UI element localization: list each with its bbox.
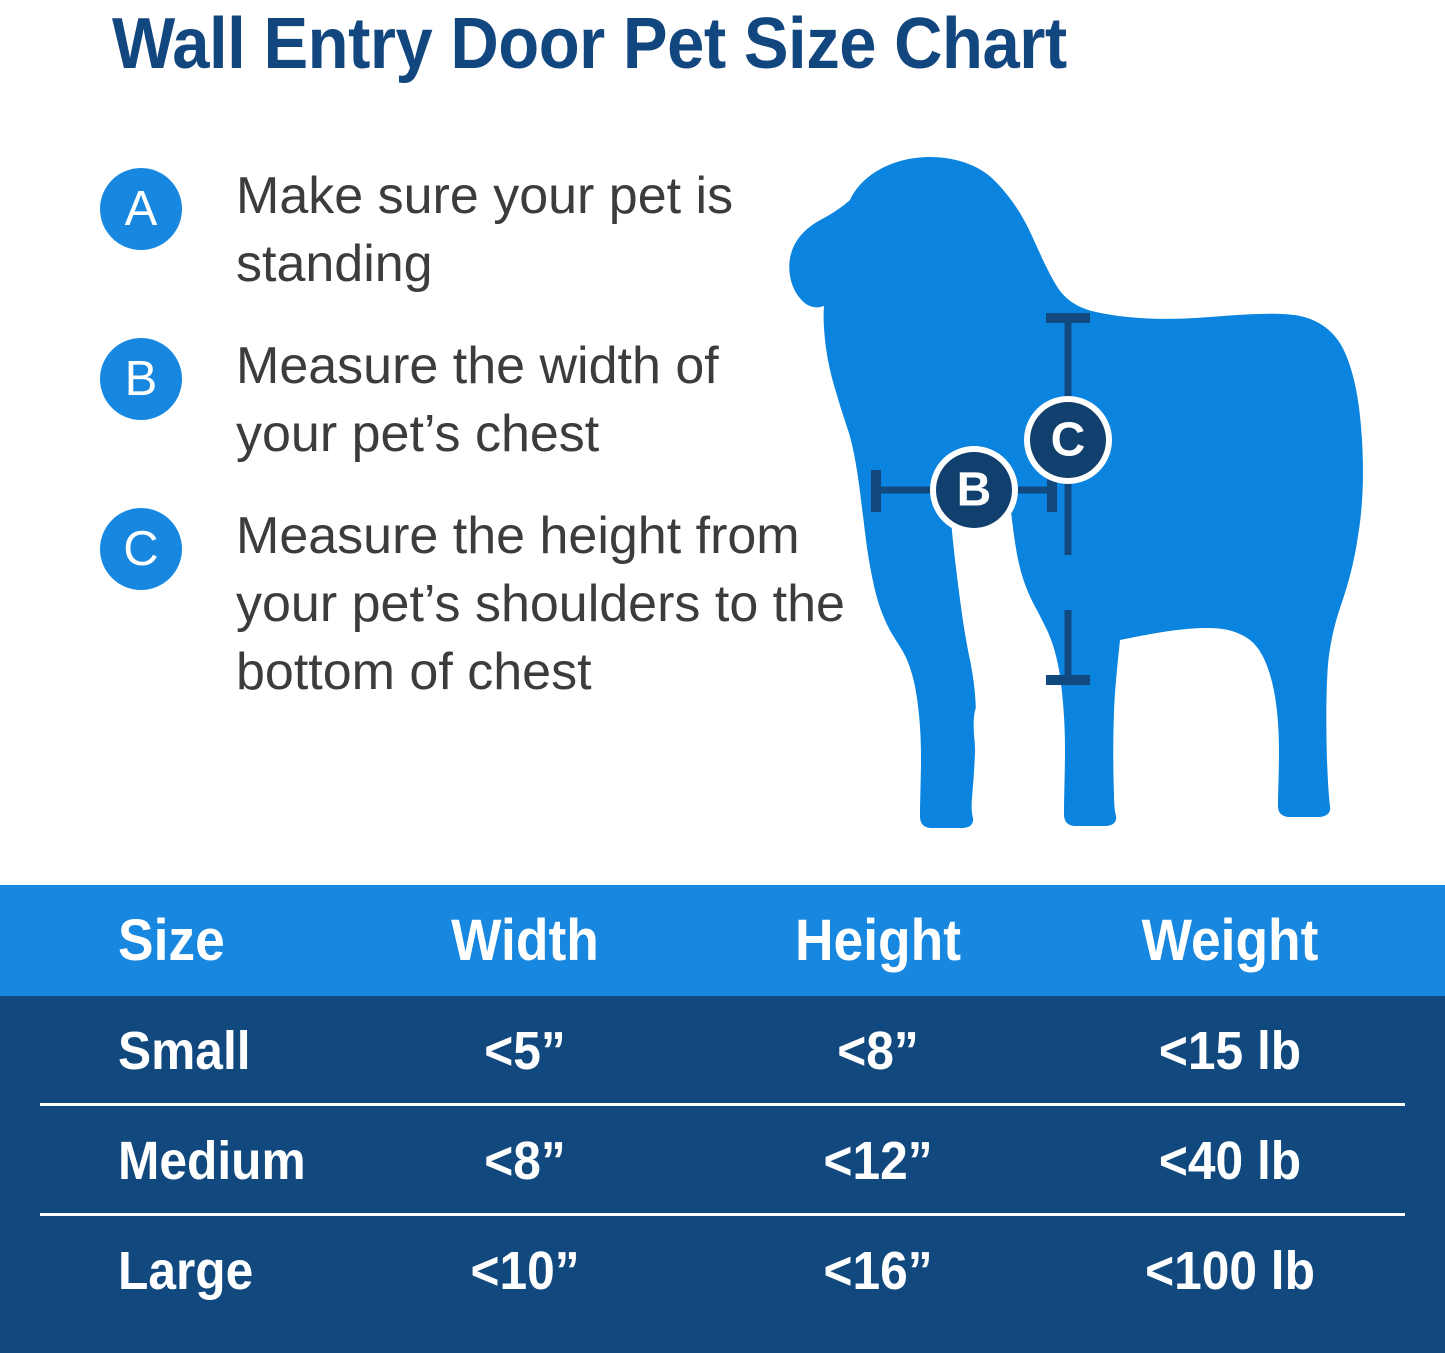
table-body: Small <5” <8” <15 lb Medium <8” <12” <40…	[0, 996, 1445, 1353]
table-row: Medium <8” <12” <40 lb	[0, 1106, 1445, 1216]
column-header-height: Height	[795, 885, 961, 996]
dog-leg-gaps	[974, 700, 986, 816]
list-item: A Make sure your pet is standing	[100, 162, 880, 298]
step-text-b: Measure the width of your pet’s chest	[236, 332, 756, 468]
step-badge-b: B	[100, 338, 182, 420]
table-header-row: Size Width Height Weight	[0, 885, 1445, 996]
cell-width-medium: <8”	[484, 1106, 565, 1216]
measurement-steps-list: A Make sure your pet is standing B Measu…	[100, 162, 880, 740]
cell-weight-small: <15 lb	[1159, 996, 1301, 1106]
size-table: Size Width Height Weight Small <5” <8” <…	[0, 885, 1445, 1353]
list-item: C Measure the height from your pet’s sho…	[100, 502, 880, 706]
step-badge-c: C	[100, 508, 182, 590]
column-header-size: Size	[118, 885, 225, 996]
cell-height-small: <8”	[837, 996, 918, 1106]
marker-c-label: C	[1051, 414, 1086, 467]
step-badge-a: A	[100, 168, 182, 250]
marker-c: C	[1024, 396, 1112, 484]
table-row: Large <10” <16” <100 lb	[0, 1216, 1445, 1353]
step-text-a: Make sure your pet is standing	[236, 162, 756, 298]
cell-size-medium: Medium	[118, 1106, 306, 1216]
marker-b-label: B	[957, 464, 992, 517]
pet-size-chart-infographic: Wall Entry Door Pet Size Chart A Make su…	[0, 0, 1445, 1353]
marker-b: B	[930, 446, 1018, 534]
cell-size-large: Large	[118, 1216, 253, 1326]
cell-width-large: <10”	[470, 1216, 579, 1326]
column-header-width: Width	[451, 885, 599, 996]
column-header-weight: Weight	[1142, 885, 1319, 996]
cell-weight-large: <100 lb	[1145, 1216, 1315, 1326]
dog-illustration: C B	[780, 140, 1420, 830]
list-item: B Measure the width of your pet’s chest	[100, 332, 880, 468]
cell-size-small: Small	[118, 996, 251, 1106]
table-row: Small <5” <8” <15 lb	[0, 996, 1445, 1106]
cell-height-medium: <12”	[823, 1106, 932, 1216]
cell-weight-medium: <40 lb	[1159, 1106, 1301, 1216]
cell-width-small: <5”	[484, 996, 565, 1106]
cell-height-large: <16”	[823, 1216, 932, 1326]
page-title: Wall Entry Door Pet Size Chart	[112, 2, 1275, 86]
